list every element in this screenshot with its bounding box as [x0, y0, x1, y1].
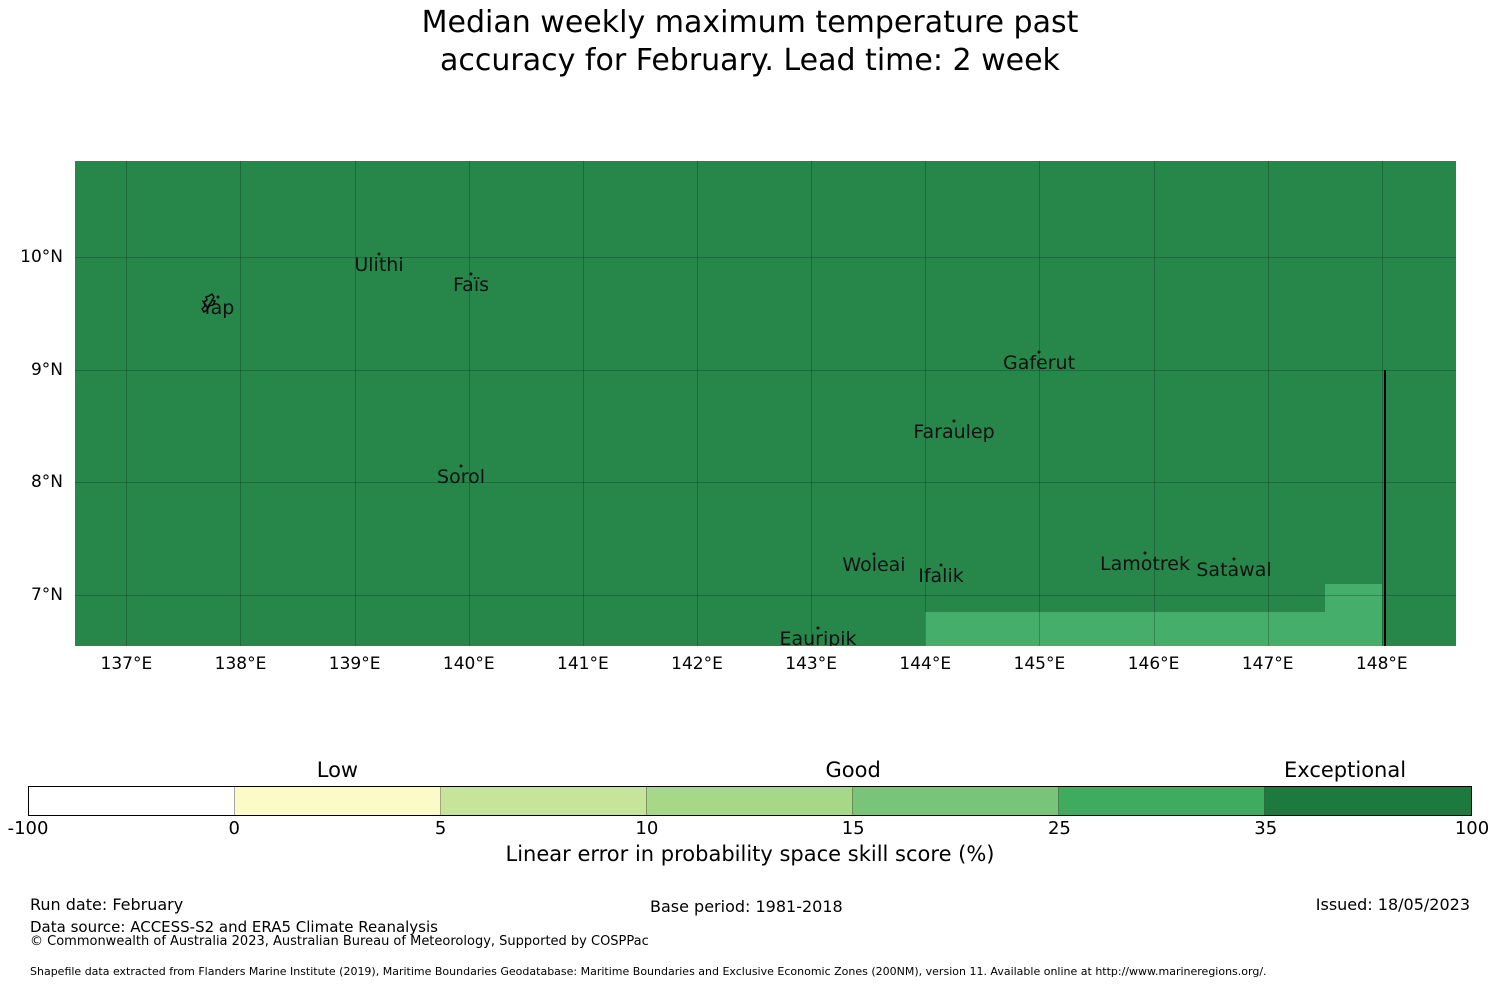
map-place-label: Faraulep — [913, 421, 994, 443]
map-place-label: Faïs — [453, 274, 489, 296]
y-axis-tick-label: 10°N — [20, 247, 63, 267]
map-place-marker — [873, 553, 876, 556]
map-place-marker — [470, 273, 473, 276]
map-gridline-vertical — [355, 161, 356, 646]
map-gridline-vertical — [1039, 161, 1040, 646]
map-place-label: Eauripik — [779, 628, 856, 646]
x-axis-tick-label: 137°E — [101, 654, 153, 674]
colorbar-segment — [647, 787, 853, 815]
eez-boundary-line — [1384, 370, 1386, 646]
colorbar-tick-label: 100 — [1455, 818, 1489, 839]
x-axis-tick-label: 144°E — [899, 654, 951, 674]
x-axis-tick-label: 148°E — [1356, 654, 1408, 674]
map-place-marker — [1233, 558, 1236, 561]
map-place-label: Ifalik — [918, 565, 964, 587]
map-gridline-vertical — [126, 161, 127, 646]
map-gridline-vertical — [469, 161, 470, 646]
map-place-marker — [378, 253, 381, 256]
map-gridline-horizontal — [75, 257, 1456, 258]
colorbar-category-label: Low — [317, 758, 358, 782]
colorbar-segment — [1059, 787, 1265, 815]
map-gridline-vertical — [583, 161, 584, 646]
x-axis-tick-label: 145°E — [1014, 654, 1066, 674]
colorbar-tick-label: 5 — [435, 818, 446, 839]
y-axis-tick-label: 9°N — [31, 360, 63, 380]
map-canvas: YapUlithiFaïsSorolGaferutFaraulepWoleaiI… — [75, 161, 1456, 646]
map-data-cell — [1325, 584, 1382, 646]
map-panel: YapUlithiFaïsSorolGaferutFaraulepWoleaiI… — [75, 161, 1456, 646]
colorbar-tick-label: 0 — [229, 818, 240, 839]
x-axis-tick-label: 147°E — [1242, 654, 1294, 674]
colorbar-category-label: Good — [825, 758, 880, 782]
colorbar-segment — [29, 787, 235, 815]
map-place-label: Satawal — [1196, 559, 1271, 581]
map-place-marker — [1038, 351, 1041, 354]
map-gridline-vertical — [240, 161, 241, 646]
map-gridline-vertical — [1382, 161, 1383, 646]
map-place-marker — [940, 564, 943, 567]
colorbar-segment — [441, 787, 647, 815]
x-axis-tick-label: 141°E — [557, 654, 609, 674]
colorbar-tick-label: 15 — [842, 818, 865, 839]
colorbar-segment — [1265, 787, 1471, 815]
map-place-marker — [460, 465, 463, 468]
map-gridline-horizontal — [75, 370, 1456, 371]
footer-issued: Issued: 18/05/2023 — [1316, 895, 1470, 914]
x-axis-tick-label: 140°E — [443, 654, 495, 674]
colorbar-axis-title: Linear error in probability space skill … — [0, 842, 1500, 866]
colorbar-category-label: Exceptional — [1284, 758, 1406, 782]
map-place-marker — [953, 420, 956, 423]
map-place-label: Sorol — [437, 466, 485, 488]
colorbar-tick-label: 35 — [1254, 818, 1277, 839]
map-gridline-vertical — [697, 161, 698, 646]
footer-run-date: Run date: February — [30, 895, 183, 914]
page-title: Median weekly maximum temperature past a… — [0, 4, 1500, 80]
map-gridline-horizontal — [75, 482, 1456, 483]
colorbar-tick-label: -100 — [8, 818, 49, 839]
x-axis-tick-label: 146°E — [1128, 654, 1180, 674]
map-place-marker — [817, 627, 820, 630]
y-axis-tick-label: 7°N — [31, 585, 63, 605]
colorbar-tick-label: 10 — [635, 818, 658, 839]
colorbar — [28, 786, 1472, 816]
colorbar-tick-label: 25 — [1048, 818, 1071, 839]
map-place-label: Ulithi — [354, 254, 403, 276]
x-axis-tick-label: 139°E — [329, 654, 381, 674]
x-axis-tick-label: 143°E — [785, 654, 837, 674]
map-gridline-vertical — [811, 161, 812, 646]
map-place-label: Woleai — [842, 554, 905, 576]
y-axis-tick-label: 8°N — [31, 472, 63, 492]
footer-base-period: Base period: 1981-2018 — [650, 897, 843, 916]
map-place-label: Gaferut — [1003, 352, 1075, 374]
yap-island-shape — [199, 292, 221, 316]
colorbar-segment — [853, 787, 1059, 815]
footer-copyright: © Commonwealth of Australia 2023, Austra… — [30, 934, 649, 949]
x-axis-tick-label: 142°E — [671, 654, 723, 674]
map-gridline-horizontal — [75, 595, 1456, 596]
x-axis-tick-label: 138°E — [215, 654, 267, 674]
colorbar-segment — [235, 787, 441, 815]
map-place-marker — [1144, 552, 1147, 555]
map-place-label: Lamotrek — [1100, 553, 1190, 575]
footer-shapefile-note: Shapefile data extracted from Flanders M… — [30, 965, 1267, 978]
